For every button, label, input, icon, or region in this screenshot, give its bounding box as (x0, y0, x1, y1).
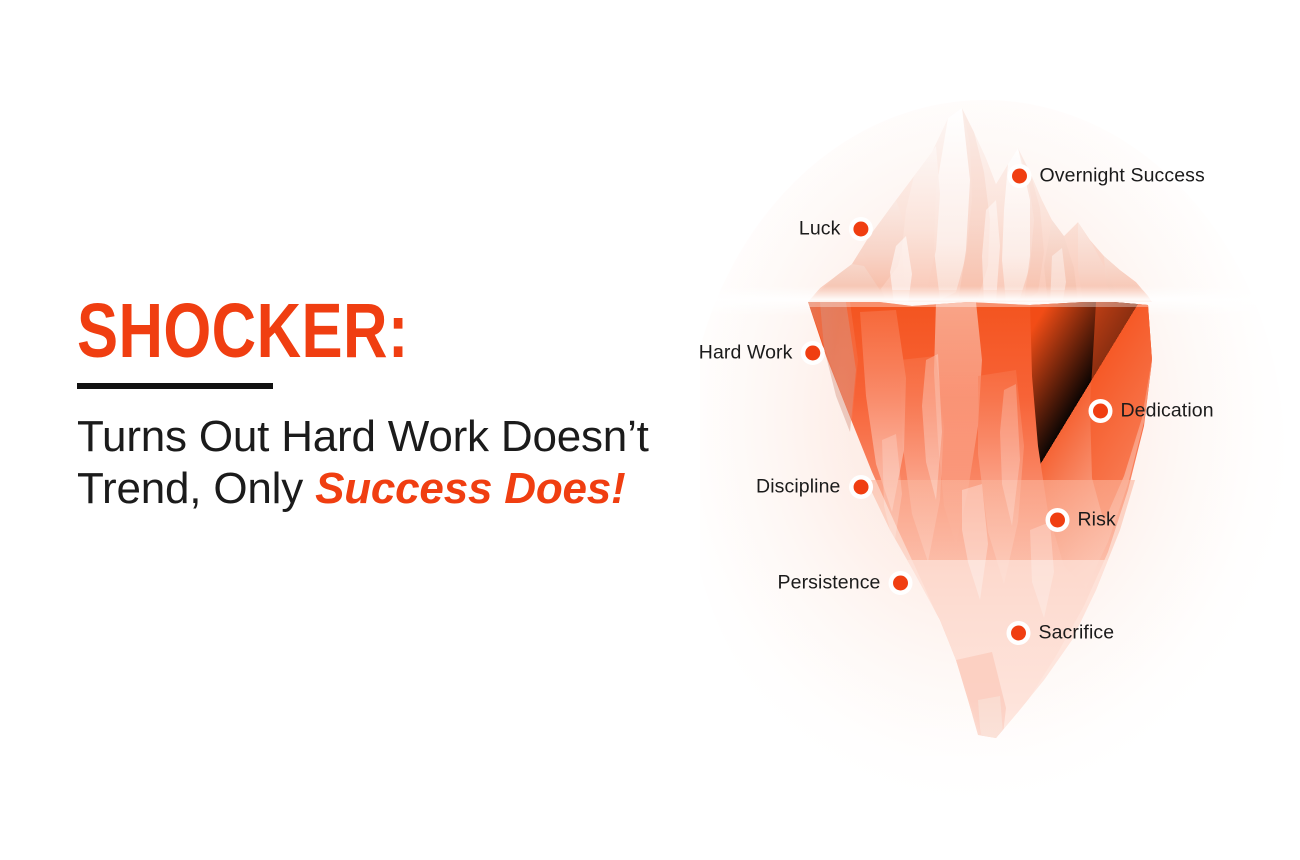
callout-label-text: Sacrifice (1039, 622, 1115, 645)
callout-persistence[interactable]: Persistence (778, 572, 909, 595)
callout-dedication[interactable]: Dedication (1093, 400, 1214, 423)
callout-label-text: Overnight Success (1040, 165, 1205, 188)
callout-dot-icon[interactable] (1093, 404, 1108, 419)
callout-dot-icon[interactable] (1050, 513, 1065, 528)
callout-dot-icon[interactable] (854, 480, 869, 495)
callout-risk[interactable]: Risk (1050, 509, 1116, 532)
subtitle-accent: Success Does! (315, 464, 625, 513)
infographic-canvas: SHOCKER: Turns Out Hard Work Doesn’t Tre… (0, 0, 1300, 860)
bottom-fade (700, 700, 1300, 860)
callout-hard-work[interactable]: Hard Work (699, 342, 821, 365)
callout-label-text: Dedication (1121, 400, 1214, 423)
callout-dot-icon[interactable] (806, 346, 821, 361)
callout-label-text: Discipline (756, 476, 840, 499)
callout-sacrifice[interactable]: Sacrifice (1011, 622, 1115, 645)
callout-luck[interactable]: Luck (799, 218, 869, 241)
callout-overnight-success[interactable]: Overnight Success (1012, 165, 1205, 188)
headline-block: SHOCKER: Turns Out Hard Work Doesn’t Tre… (77, 296, 737, 515)
subtitle-line-1: Turns Out Hard Work Doesn’t (77, 412, 649, 461)
callout-dot-icon[interactable] (894, 576, 909, 591)
callout-label-text: Luck (799, 218, 841, 241)
callout-dot-icon[interactable] (854, 222, 869, 237)
callout-discipline[interactable]: Discipline (756, 476, 868, 499)
callout-dot-icon[interactable] (1012, 169, 1027, 184)
callout-dot-icon[interactable] (1011, 626, 1026, 641)
callout-label-text: Risk (1078, 509, 1116, 532)
iceberg-illustration (700, 60, 1300, 860)
callout-label-text: Hard Work (699, 342, 793, 365)
page-title-kicker: SHOCKER: (77, 296, 605, 367)
page-subtitle: Turns Out Hard Work Doesn’t Trend, Only … (77, 411, 737, 515)
title-divider (77, 383, 273, 389)
subtitle-line-2-prefix: Trend, Only (77, 464, 315, 513)
callout-label-text: Persistence (778, 572, 881, 595)
